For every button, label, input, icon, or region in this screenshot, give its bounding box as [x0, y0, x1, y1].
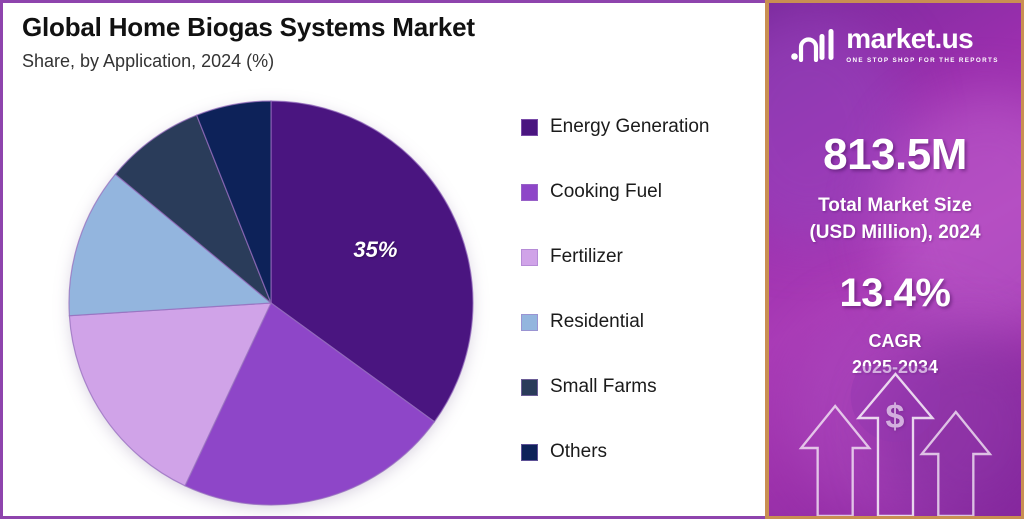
market-size-label-line2: (USD Million), 2024	[809, 222, 980, 243]
market-size-value: 813.5M	[769, 130, 1021, 180]
legend-item[interactable]: Others	[521, 441, 710, 463]
legend-label: Cooking Fuel	[550, 181, 662, 203]
legend-label: Energy Generation	[550, 116, 710, 138]
stats-panel: market.us ONE STOP SHOP FOR THE REPORTS …	[765, 0, 1024, 519]
legend-swatch	[521, 314, 538, 331]
chart-panel: Global Home Biogas Systems Market Share,…	[0, 0, 765, 519]
cagr-value: 13.4%	[769, 271, 1021, 316]
legend-item[interactable]: Cooking Fuel	[521, 181, 710, 203]
cagr-label-line1: CAGR	[869, 331, 922, 351]
market-us-logo-icon	[791, 28, 837, 62]
brand-name: market.us	[846, 25, 999, 53]
legend-item[interactable]: Fertilizer	[521, 246, 710, 268]
page-title: Global Home Biogas Systems Market	[22, 12, 475, 43]
legend-item[interactable]: Residential	[521, 311, 710, 333]
legend-swatch	[521, 379, 538, 396]
legend-label: Others	[550, 441, 607, 463]
legend-swatch	[521, 119, 538, 136]
title-block: Global Home Biogas Systems Market Share,…	[22, 12, 475, 72]
brand-tagline: ONE STOP SHOP FOR THE REPORTS	[846, 57, 999, 64]
legend-label: Small Farms	[550, 376, 657, 398]
legend-item[interactable]: Small Farms	[521, 376, 710, 398]
legend-swatch	[521, 184, 538, 201]
legend-swatch	[521, 444, 538, 461]
chart-legend: Energy GenerationCooking FuelFertilizerR…	[521, 116, 710, 463]
page-subtitle: Share, by Application, 2024 (%)	[22, 51, 475, 72]
market-size-label: Total Market Size (USD Million), 2024	[769, 193, 1021, 246]
legend-swatch	[521, 249, 538, 266]
growth-arrows-icon	[769, 366, 1021, 516]
legend-label: Fertilizer	[550, 246, 623, 268]
market-size-label-line1: Total Market Size	[818, 195, 972, 216]
brand-text-block: market.us ONE STOP SHOP FOR THE REPORTS	[846, 25, 999, 64]
infographic-root: Global Home Biogas Systems Market Share,…	[0, 0, 1024, 519]
legend-item[interactable]: Energy Generation	[521, 116, 710, 138]
brand-logo: market.us ONE STOP SHOP FOR THE REPORTS	[769, 25, 1021, 64]
pie-chart: 35%	[66, 98, 476, 508]
pie-slices	[66, 98, 476, 508]
pie-svg	[66, 98, 476, 508]
legend-label: Residential	[550, 311, 644, 333]
